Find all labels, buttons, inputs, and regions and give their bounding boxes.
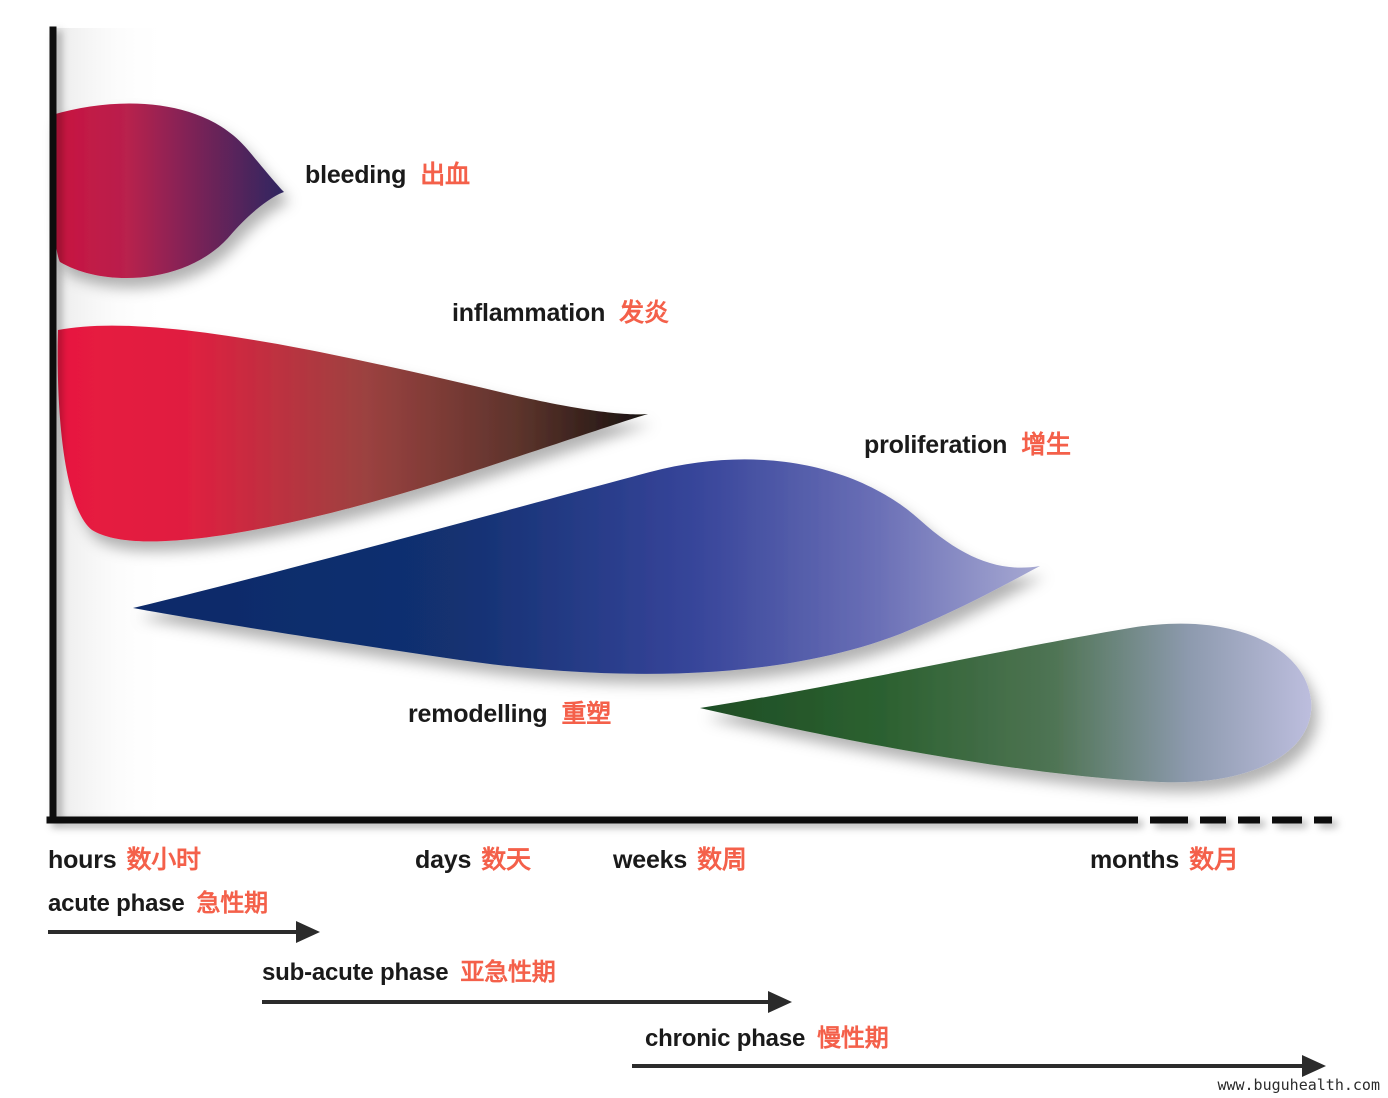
curve-label-inflammation: inflammation发炎 xyxy=(452,293,669,329)
phase-label-sub-acute-zh: 亚急性期 xyxy=(460,959,555,986)
curve-label-proliferation-en: proliferation xyxy=(864,431,1007,459)
curve-label-remodelling-en: remodelling xyxy=(408,700,548,728)
x-tick-weeks-en: weeks xyxy=(613,846,687,874)
curve-bleeding xyxy=(52,104,284,278)
x-tick-hours: hours数小时 xyxy=(48,840,201,876)
curve-label-proliferation-zh: 增生 xyxy=(1021,431,1071,459)
x-tick-weeks: weeks数周 xyxy=(613,840,747,876)
phase-label-chronic-zh: 慢性期 xyxy=(817,1025,888,1052)
curve-label-proliferation: proliferation增生 xyxy=(864,425,1071,461)
curve-label-inflammation-zh: 发炎 xyxy=(619,299,669,327)
x-tick-hours-zh: 数小时 xyxy=(126,846,200,874)
chronic-phase-arrow xyxy=(632,1055,1326,1077)
x-tick-hours-en: hours xyxy=(48,846,116,874)
wound-healing-curves-svg xyxy=(0,0,1388,1098)
x-tick-days-zh: 数天 xyxy=(481,846,531,874)
curve-label-remodelling: remodelling重塑 xyxy=(408,694,611,730)
x-tick-days-en: days xyxy=(415,846,471,874)
curve-label-remodelling-zh: 重塑 xyxy=(562,700,612,728)
curve-label-bleeding: bleeding出血 xyxy=(305,155,470,191)
x-tick-months: months数月 xyxy=(1090,840,1239,876)
phase-label-chronic: chronic phase慢性期 xyxy=(645,1018,889,1053)
phase-label-acute-zh: 急性期 xyxy=(197,890,268,917)
curve-label-bleeding-zh: 出血 xyxy=(420,161,470,189)
x-tick-months-en: months xyxy=(1090,846,1179,874)
x-tick-days: days数天 xyxy=(415,840,531,876)
diagram-canvas: bleeding出血 inflammation发炎 proliferation增… xyxy=(0,0,1388,1098)
phase-label-acute: acute phase急性期 xyxy=(48,883,268,918)
phase-label-acute-en: acute phase xyxy=(48,890,185,917)
phase-label-sub-acute: sub-acute phase亚急性期 xyxy=(262,952,556,987)
sub-acute-phase-arrow xyxy=(262,991,792,1013)
x-tick-months-zh: 数月 xyxy=(1189,846,1239,874)
acute-phase-arrow xyxy=(48,921,320,943)
phase-arrows xyxy=(48,921,1326,1077)
curve-label-bleeding-en: bleeding xyxy=(305,161,406,189)
watermark: www.buguhealth.com xyxy=(1217,1076,1380,1094)
phase-label-sub-acute-en: sub-acute phase xyxy=(262,959,448,986)
curve-label-inflammation-en: inflammation xyxy=(452,299,605,327)
x-tick-weeks-zh: 数周 xyxy=(697,846,747,874)
phase-label-chronic-en: chronic phase xyxy=(645,1025,805,1052)
